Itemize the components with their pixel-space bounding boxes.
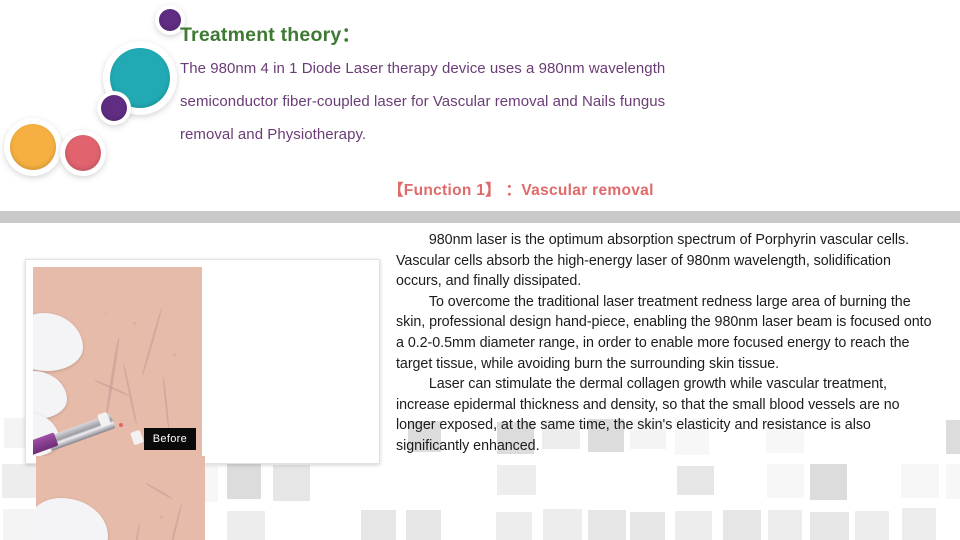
- after-photo: After: [36, 456, 205, 540]
- mosaic-tile: [675, 511, 712, 540]
- before-photo: Before: [33, 267, 202, 456]
- body-paragraph-1: 980nm laser is the optimum absorption sp…: [396, 230, 936, 292]
- mosaic-tile: [406, 510, 441, 540]
- mosaic-tile: [723, 510, 761, 540]
- mosaic-tile: [496, 512, 532, 540]
- decor-circle-purple-mid-icon: [97, 91, 131, 125]
- mosaic-tile: [810, 464, 847, 500]
- header-block: Treatment theory： The 980nm 4 in 1 Diode…: [180, 22, 880, 151]
- mosaic-tile: [767, 464, 804, 498]
- mosaic-tile: [2, 464, 40, 498]
- mosaic-tile: [227, 511, 265, 540]
- decor-circle-rose-icon: [60, 130, 106, 176]
- slide-canvas: Treatment theory： The 980nm 4 in 1 Diode…: [0, 0, 960, 540]
- before-label: Before: [144, 428, 196, 450]
- section-divider: [0, 211, 960, 223]
- mosaic-tile: [901, 464, 939, 498]
- decor-circle-amber-icon: [4, 118, 62, 176]
- mosaic-tile: [902, 508, 936, 540]
- mosaic-tile: [588, 510, 626, 540]
- mosaic-tile: [946, 464, 960, 499]
- mosaic-tile: [227, 463, 261, 499]
- mosaic-tile: [273, 465, 310, 501]
- function-1-heading: 【Function 1】 ：Vascular removal: [388, 178, 654, 200]
- body-copy-block: 980nm laser is the optimum absorption sp…: [396, 230, 936, 457]
- mosaic-tile: [768, 510, 802, 540]
- body-paragraph-2: To overcome the traditional laser treatm…: [396, 292, 936, 374]
- decorative-circle-cluster: [0, 0, 200, 180]
- mosaic-tile: [810, 512, 849, 540]
- mosaic-tile: [497, 465, 536, 495]
- body-paragraph-3: Laser can stimulate the dermal collagen …: [396, 374, 936, 456]
- before-after-photo-panel: Before After: [25, 259, 380, 464]
- mosaic-tile: [3, 509, 40, 540]
- mosaic-tile: [543, 509, 582, 540]
- mosaic-tile: [946, 420, 960, 454]
- intro-paragraph: The 980nm 4 in 1 Diode Laser therapy dev…: [180, 52, 880, 151]
- mosaic-tile: [361, 510, 396, 540]
- page-title: Treatment theory：: [180, 22, 880, 48]
- mosaic-tile: [630, 512, 665, 540]
- mosaic-tile: [677, 466, 714, 495]
- mosaic-tile: [855, 511, 889, 540]
